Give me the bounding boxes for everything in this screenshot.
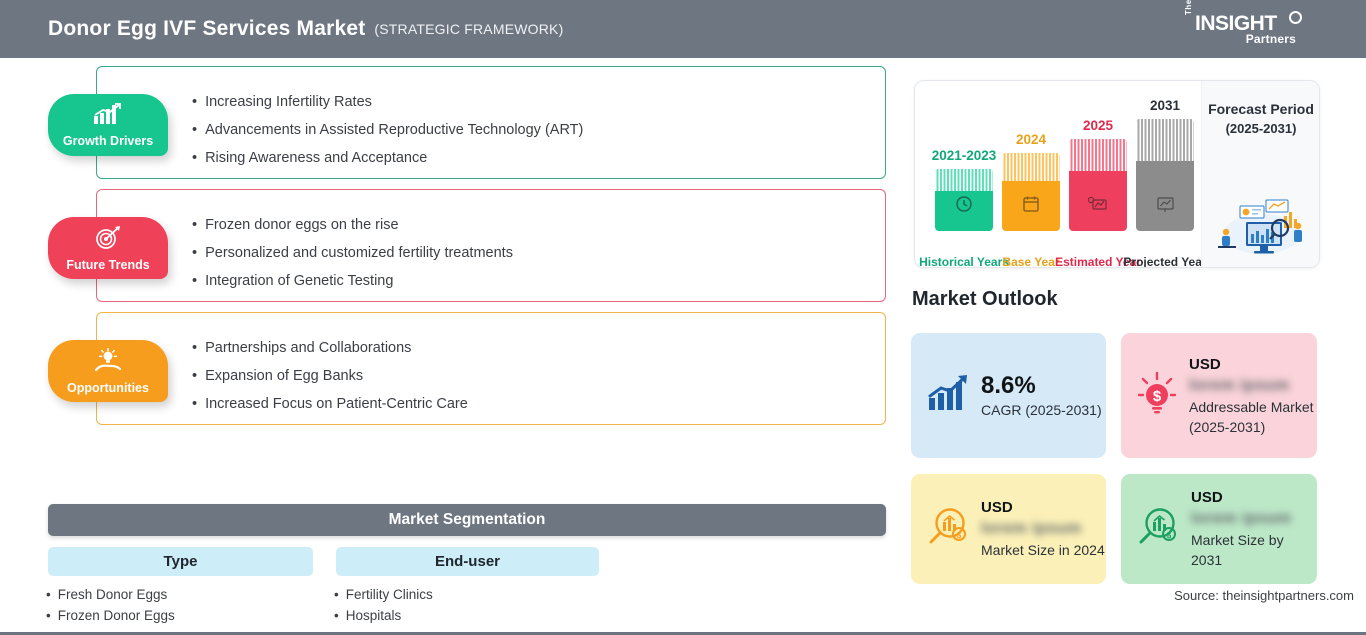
market-size-2024-caption: Market Size in 2024 xyxy=(981,540,1105,560)
bar-chart-arrow-icon xyxy=(91,103,125,132)
list-item: Partnerships and Collaborations xyxy=(192,334,468,362)
cagr-value: 8.6% xyxy=(981,372,1102,400)
outlook-card-addressable-body: USD lorem ipsum Addressable Market (2025… xyxy=(1189,355,1317,437)
outlook-card-addressable-market: $ USD lorem ipsum Addressable Market (20… xyxy=(1121,333,1317,458)
list-item: Increased Focus on Patient-Centric Care xyxy=(192,390,468,418)
bar-year-label: 2031 xyxy=(1150,98,1180,113)
list-item: Increasing Infertility Rates xyxy=(192,88,583,116)
outlook-card-market-size-2031: $ USD lorem ipsum Market Size by 2031 xyxy=(1121,474,1317,584)
page-title: Donor Egg IVF Services Market xyxy=(48,17,365,41)
market-size-2031-value-redacted: lorem ipsum xyxy=(1191,508,1317,530)
clock-history-icon xyxy=(954,194,974,219)
segmentation-column-header-enduser: End-user xyxy=(336,547,599,576)
segment-enduser-label: End-user xyxy=(435,553,500,570)
logo-the-text: The xyxy=(1184,0,1193,15)
growth-drivers-badge[interactable]: Growth Drivers xyxy=(48,94,168,156)
growth-drivers-label: Growth Drivers xyxy=(63,134,153,148)
market-size-2024-unit: USD xyxy=(981,498,1105,518)
svg-text:$: $ xyxy=(957,531,962,540)
bar-year-label: 2024 xyxy=(1016,132,1046,147)
forecast-period-side: Forecast Period (2025-2031) xyxy=(1201,81,1319,268)
lightbulb-dollar-icon: $ xyxy=(1135,369,1179,422)
list-item: Frozen Donor Eggs xyxy=(46,605,175,626)
forecast-period-heading: Forecast Period xyxy=(1202,99,1320,119)
list-item: Advancements in Assisted Reproductive Te… xyxy=(192,116,583,144)
market-outlook-title: Market Outlook xyxy=(912,288,1058,311)
market-size-2024-value-redacted: lorem ipsum xyxy=(981,518,1105,540)
right-column: 2021-2023 Historical Years xyxy=(900,58,1366,635)
future-trends-bullets: Frozen donor eggs on the rise Personaliz… xyxy=(192,211,513,295)
growth-drivers-bullets: Increasing Infertility Rates Advancement… xyxy=(192,88,583,172)
opportunities-bullets: Partnerships and Collaborations Expansio… xyxy=(192,334,468,418)
forecast-period-chart: 2021-2023 Historical Years xyxy=(914,80,1320,268)
calendar-icon xyxy=(1021,194,1041,219)
opportunities-label: Opportunities xyxy=(67,381,149,395)
magnifier-chart-icon: $ xyxy=(925,504,971,555)
hand-lightbulb-icon xyxy=(92,348,124,379)
forecast-analytics-icon xyxy=(1087,194,1109,219)
segment-type-label: Type xyxy=(164,553,198,570)
page-header: Donor Egg IVF Services Market (STRATEGIC… xyxy=(0,0,1366,58)
segmentation-column-header-type: Type xyxy=(48,547,313,576)
segmentation-list-enduser: Fertility Clinics Hospitals xyxy=(334,584,433,626)
outlook-card-cagr: 8.6% CAGR (2025-2031) xyxy=(911,333,1106,458)
logo-partners-text: Partners xyxy=(1246,32,1296,46)
forecast-period-title: Forecast Period (2025-2031) xyxy=(1202,99,1320,139)
outlook-card-cagr-body: 8.6% CAGR (2025-2031) xyxy=(981,372,1102,420)
forecast-period-range: (2025-2031) xyxy=(1202,119,1320,139)
forecast-bars: 2021-2023 Historical Years xyxy=(929,81,1199,268)
magnifier-chart-icon: $ xyxy=(1135,504,1181,555)
market-size-2031-unit: USD xyxy=(1191,488,1317,508)
infographic-page: Donor Egg IVF Services Market (STRATEGIC… xyxy=(0,0,1366,635)
growth-chart-icon xyxy=(925,372,971,419)
future-trends-badge[interactable]: Future Trends xyxy=(48,217,168,279)
bar-caption: Historical Years xyxy=(919,255,1009,268)
market-size-2031-caption: Market Size by 2031 xyxy=(1191,530,1317,570)
cagr-caption: CAGR (2025-2031) xyxy=(981,400,1102,420)
list-item: Fresh Donor Eggs xyxy=(46,584,175,605)
opportunities-badge[interactable]: Opportunities xyxy=(48,340,168,402)
outlook-card-2031-body: USD lorem ipsum Market Size by 2031 xyxy=(1191,488,1317,570)
outlook-card-market-size-2024: $ USD lorem ipsum Market Size in 2024 xyxy=(911,474,1106,584)
list-item: Integration of Genetic Testing xyxy=(192,267,513,295)
addressable-value-redacted: lorem ipsum xyxy=(1189,375,1317,397)
addressable-caption: Addressable Market (2025-2031) xyxy=(1189,397,1317,437)
outlook-card-2024-body: USD lorem ipsum Market Size in 2024 xyxy=(981,498,1105,560)
list-item: Rising Awareness and Acceptance xyxy=(192,144,583,172)
page-subtitle: (STRATEGIC FRAMEWORK) xyxy=(374,21,563,37)
bar-caption: Base Year xyxy=(1002,255,1059,268)
svg-text:$: $ xyxy=(1167,531,1172,540)
svg-text:$: $ xyxy=(1153,388,1162,405)
bar-caption: Projected Year xyxy=(1123,255,1206,268)
future-trends-label: Future Trends xyxy=(66,258,149,272)
list-item: Hospitals xyxy=(334,605,433,626)
segmentation-list-type: Fresh Donor Eggs Frozen Donor Eggs xyxy=(46,584,175,626)
bar-year-label: 2025 xyxy=(1083,118,1113,133)
left-column: Growth Drivers Increasing Infertility Ra… xyxy=(0,58,900,635)
list-item: Fertility Clinics xyxy=(334,584,433,605)
source-attribution: Source: theinsightpartners.com xyxy=(1174,588,1354,603)
list-item: Expansion of Egg Banks xyxy=(192,362,468,390)
market-segmentation-title: Market Segmentation xyxy=(389,511,546,529)
list-item: Frozen donor eggs on the rise xyxy=(192,211,513,239)
analytics-illustration-icon xyxy=(1210,194,1310,261)
addressable-unit: USD xyxy=(1189,355,1317,375)
list-item: Personalized and customized fertility tr… xyxy=(192,239,513,267)
presentation-chart-icon xyxy=(1154,194,1176,219)
market-segmentation-header: Market Segmentation xyxy=(48,504,886,536)
target-dart-icon xyxy=(93,225,123,256)
logo-circle-icon xyxy=(1289,11,1302,24)
insight-partners-logo: The INSIGHT Partners xyxy=(1184,9,1304,49)
bar-year-label: 2021-2023 xyxy=(932,148,997,163)
